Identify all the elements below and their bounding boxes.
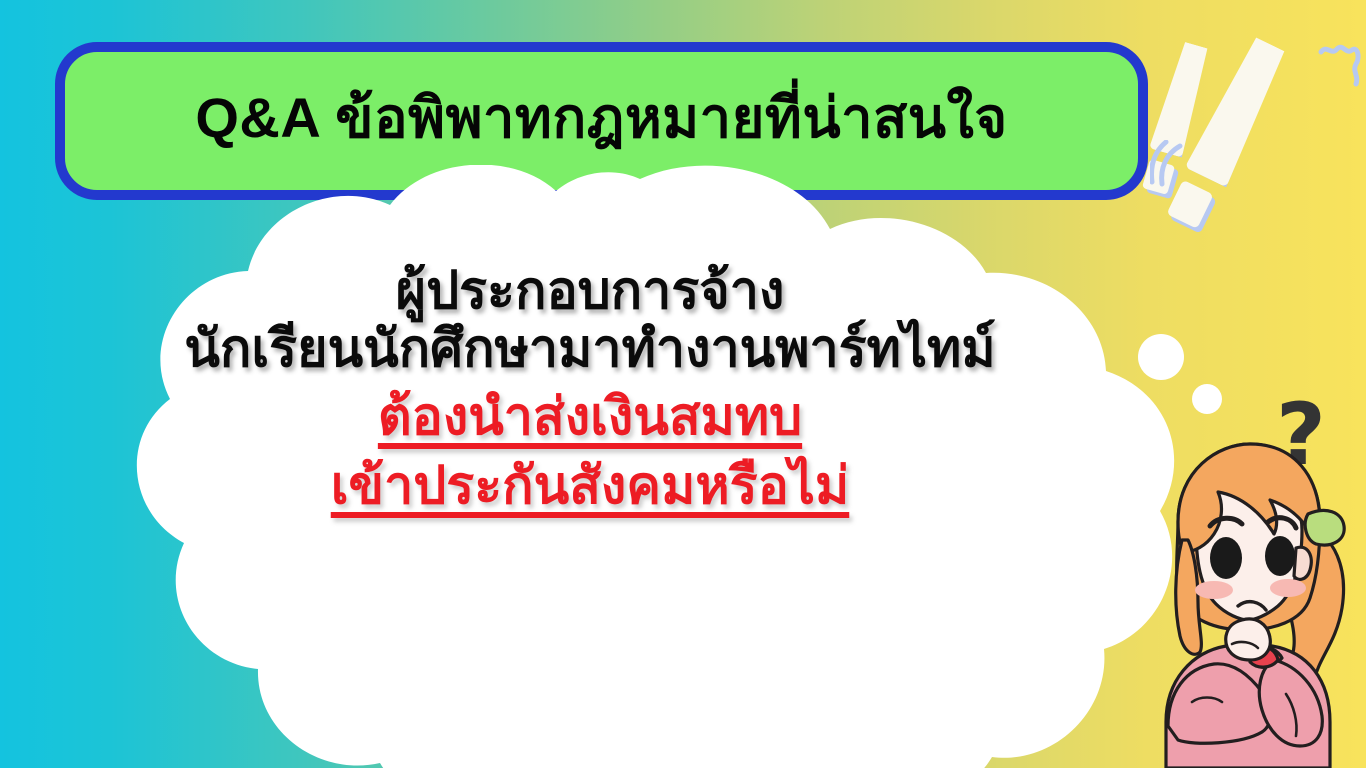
thought-dot-large [1138,334,1184,380]
thought-bubble-text: ผู้ประกอบการจ้าง นักเรียนนักศึกษามาทำงาน… [90,262,1090,515]
squiggle-decoration-icon [1318,42,1366,92]
thinking-girl-illustration [1122,430,1366,768]
bubble-line-4-highlight: เข้าประกันสังคมหรือไม่ [90,457,1090,515]
bubble-line-3-highlight: ต้องนำส่งเงินสมทบ [90,388,1090,446]
poster-canvas: Q&A ข้อพิพาทกฎหมายที่น่าสนใจ ผู้ประกอบกา… [0,0,1366,768]
page-title: Q&A ข้อพิพาทกฎหมายที่น่าสนใจ [195,90,1007,152]
bubble-line-1: ผู้ประกอบการจ้าง [90,262,1090,320]
thought-dot-small [1192,384,1222,414]
bubble-line-2: นักเรียนนักศึกษามาทำงานพาร์ทไทม์ [90,320,1090,378]
